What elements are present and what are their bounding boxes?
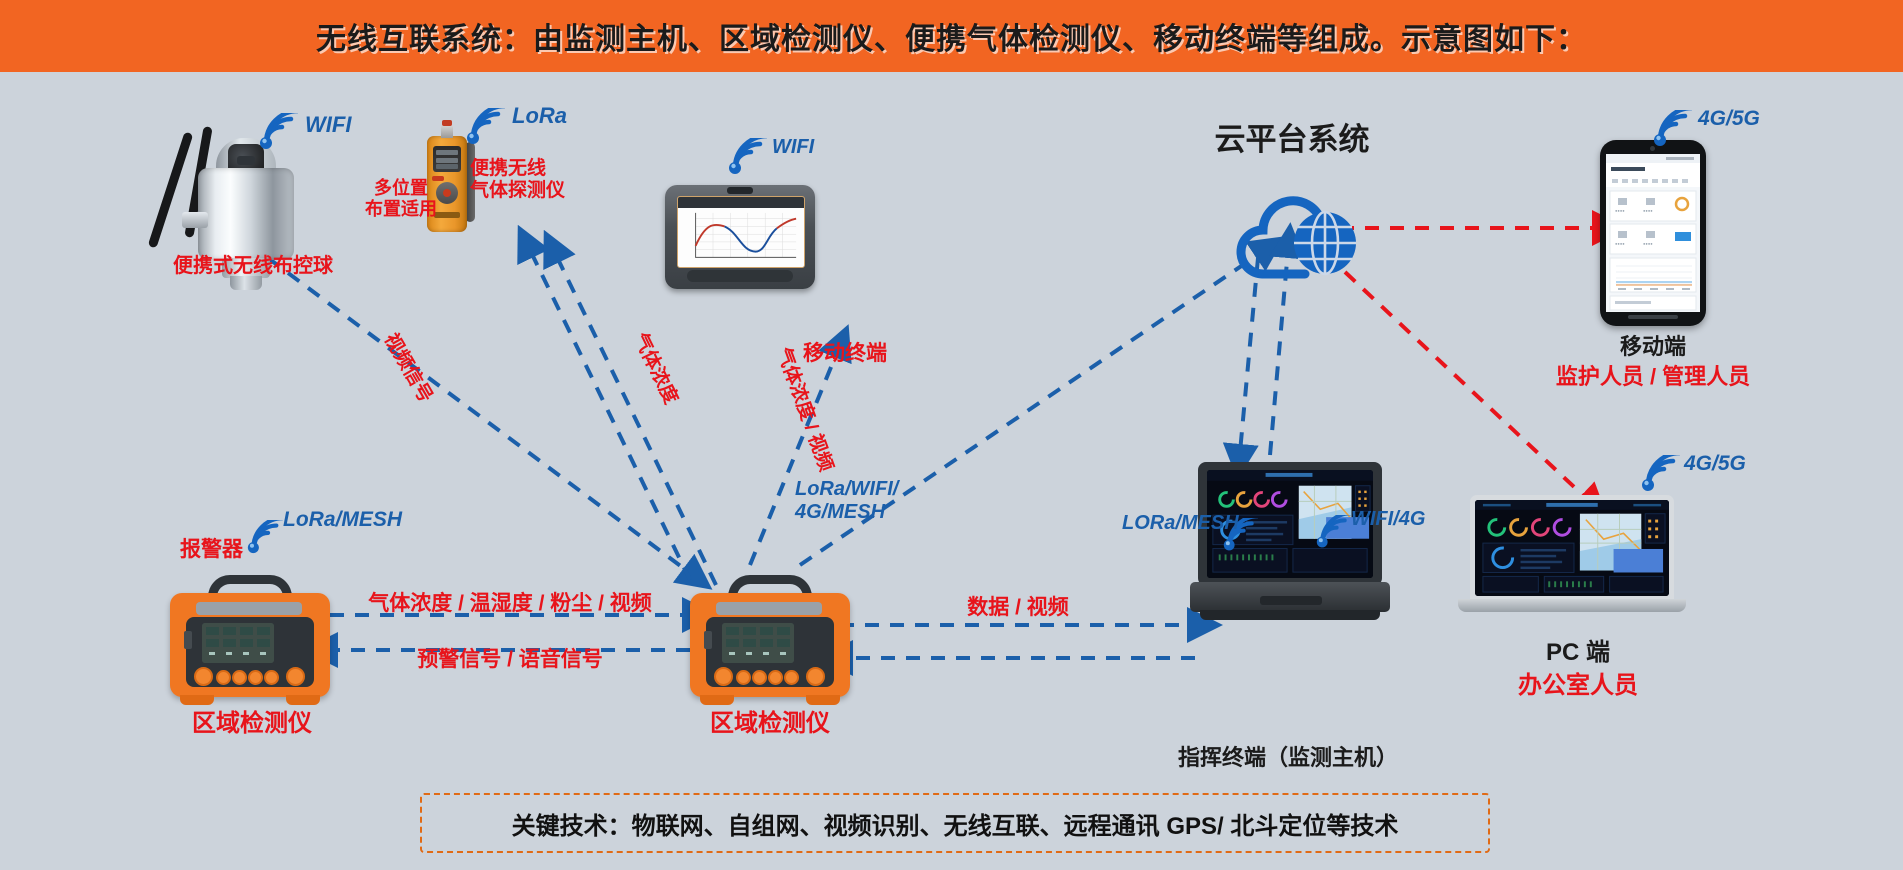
detector-foot-center-1	[700, 695, 734, 705]
camera-body	[198, 168, 294, 260]
device-sublabel-pc: 办公室人员	[1518, 672, 1638, 700]
page-header: 无线互联系统：由监测主机、区域检测仪、便携气体检测仪、移动终端等组成。示意图如下…	[0, 0, 1903, 72]
svg-text:●●●●: ●●●●	[1615, 208, 1625, 213]
wifi-icon-phone	[1652, 110, 1692, 148]
link-label-alert-back: 预警信号 / 语音信号	[417, 648, 603, 672]
cloud-platform-title: 云平台系统	[1215, 122, 1370, 158]
device-area-detector-center[interactable]	[690, 575, 850, 705]
link-label-lora-wifi-4g-mesh: LoRa/WIFI/ 4G/MESH	[795, 478, 898, 524]
detector-sensor-cap	[441, 124, 453, 138]
detector-side-port-center	[704, 631, 712, 649]
radio-label-phone: 4G/5G	[1698, 107, 1760, 131]
detector-vent-left	[196, 602, 302, 615]
wifi-icon-camera	[258, 113, 298, 151]
detector-display-center	[722, 623, 794, 663]
link-label-data-to-center: 气体浓度 / 温湿度 / 粉尘 / 视频	[368, 592, 652, 616]
device-label-pc: PC 端	[1546, 639, 1610, 667]
svg-text:●●●●: ●●●●	[1615, 241, 1625, 246]
device-pc-laptop[interactable]	[1458, 495, 1710, 630]
detector-knob-3-left[interactable]	[232, 670, 247, 685]
key-technology-box: 关键技术：物联网、自组网、视频识别、无线互联、远程通讯 GPS/ 北斗定位等技术	[420, 793, 1490, 853]
detector-knob-1-center[interactable]	[714, 667, 733, 686]
device-label-portable-gas-line2: 气体探测仪	[470, 180, 565, 202]
wifi-icon-command-right	[1315, 515, 1351, 549]
cloud-platform-icon[interactable]	[1225, 178, 1375, 288]
detector-vent-center	[716, 602, 822, 615]
device-label-command-terminal: 指挥终端（监测主机）	[1178, 745, 1398, 770]
detector-knob-2-center[interactable]	[736, 670, 751, 685]
detector-knob-5-left[interactable]	[264, 670, 279, 685]
laptop-base	[1458, 599, 1686, 612]
detector-screen	[433, 146, 461, 172]
device-label-area-detector-left: 区域检测仪	[192, 710, 312, 738]
detector-knob-4-left[interactable]	[248, 670, 263, 685]
camera-mount-knob	[182, 212, 208, 228]
link-label-data-video: 数据 / 视频	[967, 596, 1069, 620]
svg-text:●●●●: ●●●●	[1643, 208, 1653, 213]
detector-knob-6-left[interactable]	[286, 667, 305, 686]
command-terminal-trackpad[interactable]	[1260, 596, 1322, 605]
detector-side-port-left	[184, 631, 192, 649]
tablet-camera-icon	[727, 187, 753, 194]
detector-foot-center-2	[806, 695, 840, 705]
detector-vent	[434, 212, 460, 218]
note-portable-gas: 多位置 布置适用	[365, 178, 437, 219]
phone-home-indicator	[1628, 315, 1678, 319]
radio-label-command-right: WIFI/4G	[1351, 508, 1425, 531]
link-label-lora-line1: LoRa/WIFI/	[795, 478, 898, 501]
device-command-terminal[interactable]	[1190, 462, 1390, 637]
radio-label-command-left: LORa/MESH	[1122, 512, 1239, 535]
link-label-gas-concentration: 气体浓度	[628, 330, 681, 408]
detector-foot-left-1	[180, 695, 214, 705]
diagram-canvas: 无线互联系统：由监测主机、区域检测仪、便携气体检测仪、移动终端等组成。示意图如下…	[0, 0, 1903, 870]
detector-knob-6-center[interactable]	[806, 667, 825, 686]
key-technology-text: 关键技术：物联网、自组网、视频识别、无线互联、远程通讯 GPS/ 北斗定位等技术	[512, 806, 1399, 841]
laptop-screen	[1475, 500, 1669, 596]
detector-foot-left-2	[286, 695, 320, 705]
wifi-icon-pc	[1640, 455, 1680, 493]
wifi-icon-alarm	[246, 520, 283, 555]
detector-knob-2-left[interactable]	[216, 670, 231, 685]
note-portable-gas-line2: 布置适用	[365, 199, 437, 220]
tablet-trend-chart	[684, 211, 800, 261]
detector-knob-5-center[interactable]	[784, 670, 799, 685]
globe-icon	[1294, 212, 1356, 274]
tablet-button-bar[interactable]	[687, 270, 793, 282]
link-label-lora-line2: 4G/MESH	[795, 501, 898, 524]
device-label-portable-gas: 便携无线 气体探测仪	[470, 158, 565, 202]
tablet-screen	[677, 196, 805, 268]
device-label-alarm: 报警器	[180, 538, 243, 562]
device-label-portable-gas-line1: 便携无线	[470, 158, 565, 180]
tablet-statusbar	[678, 197, 804, 208]
wifi-icon-portable-gas	[465, 108, 505, 146]
detector-display-left	[202, 623, 274, 663]
device-label-camera: 便携式无线布控球	[173, 255, 333, 278]
detector-knob-4-center[interactable]	[768, 670, 783, 685]
device-mobile-tablet[interactable]	[665, 185, 815, 289]
note-portable-gas-line1: 多位置	[365, 178, 437, 199]
phone-screen: ●●●●●●●● ●●●●●●●●	[1606, 154, 1700, 312]
command-terminal-base-edge	[1200, 610, 1380, 620]
radio-label-pc: 4G/5G	[1684, 452, 1746, 476]
radio-label-portable-gas: LoRa	[512, 103, 567, 128]
detector-knob-1-left[interactable]	[194, 667, 213, 686]
device-area-detector-left[interactable]	[170, 575, 330, 705]
device-label-phone: 移动端	[1620, 334, 1686, 359]
detector-knob-3-center[interactable]	[752, 670, 767, 685]
page-title: 无线互联系统：由监测主机、区域检测仪、便携气体检测仪、移动终端等组成。示意图如下…	[316, 14, 1587, 58]
device-mobile-phone[interactable]: ●●●●●●●● ●●●●●●●●	[1600, 140, 1706, 326]
wifi-icon-tablet	[727, 138, 767, 176]
device-label-area-detector-center: 区域检测仪	[710, 710, 830, 738]
device-sublabel-phone: 监护人员 / 管理人员	[1556, 364, 1750, 389]
laptop-lid	[1470, 495, 1674, 601]
radio-label-camera: WIFI	[305, 112, 351, 137]
detector-dpad[interactable]	[436, 182, 458, 204]
radio-label-alarm: LoRa/MESH	[283, 508, 402, 532]
link-label-video-signal: 视频信号	[379, 330, 436, 407]
device-label-mobile-tablet: 移动终端	[803, 342, 887, 366]
svg-text:●●●●: ●●●●	[1643, 241, 1653, 246]
camera-base-lower	[230, 276, 262, 290]
radio-label-tablet: WIFI	[772, 136, 814, 159]
